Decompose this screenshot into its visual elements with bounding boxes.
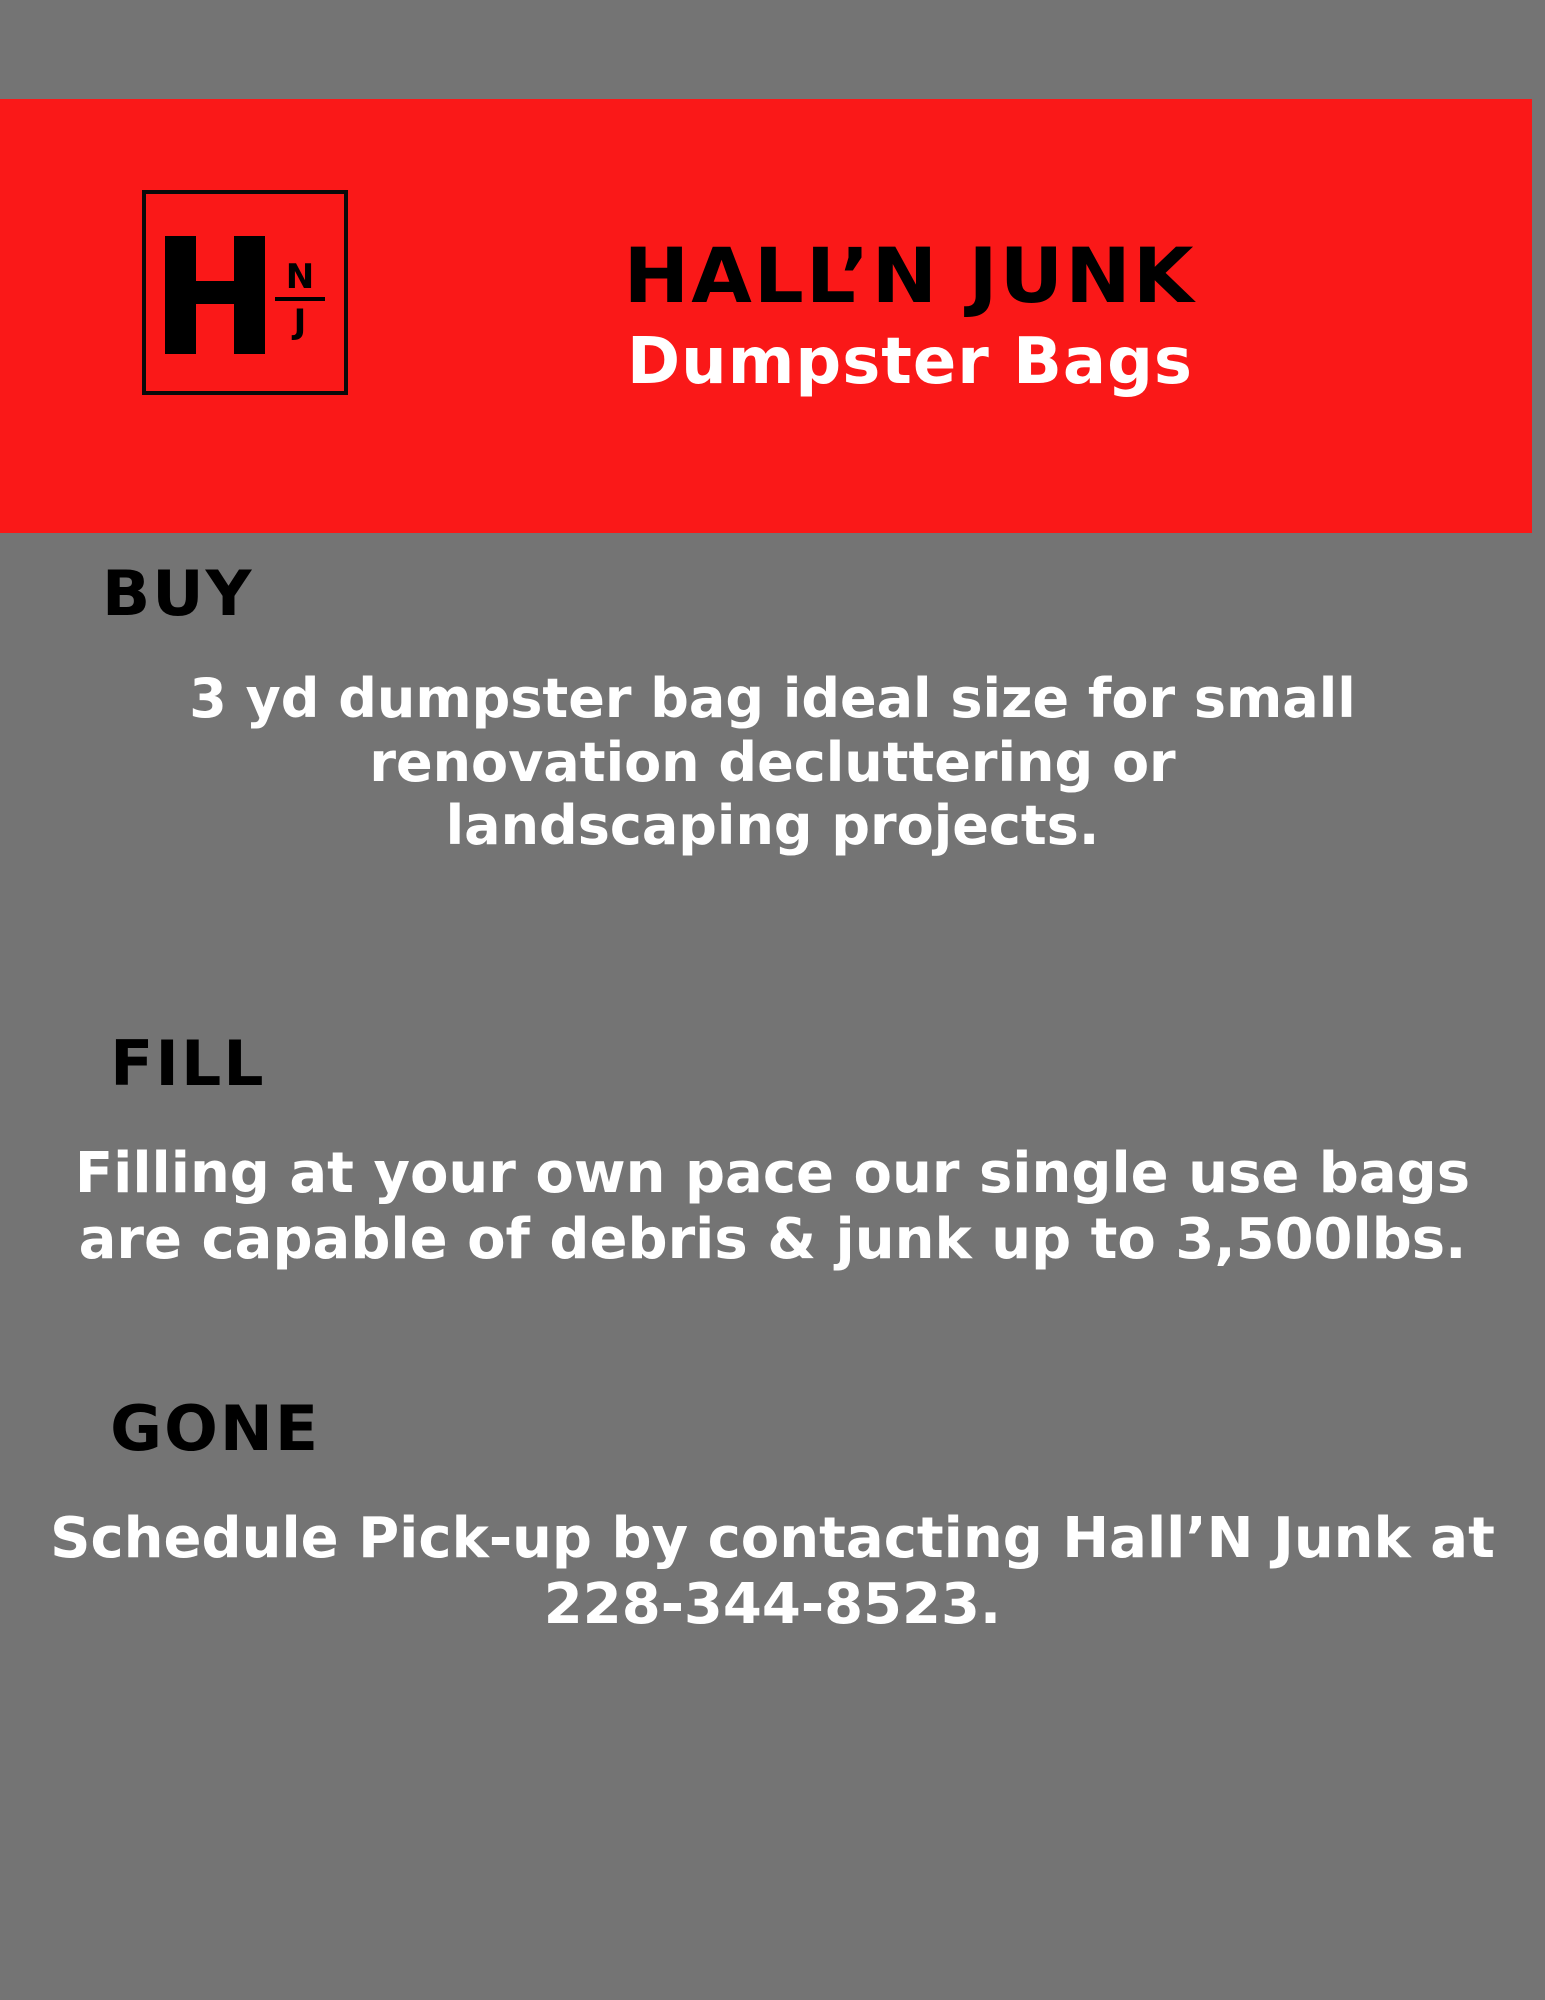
logo-fraction-rule bbox=[275, 297, 325, 301]
section-body-buy: 3 yd dumpster bag ideal size for small r… bbox=[183, 667, 1363, 858]
header-banner: N J HALL’N JUNK Dumpster Bags bbox=[0, 99, 1532, 533]
body-area: BUY 3 yd dumpster bag ideal size for sma… bbox=[0, 533, 1545, 2000]
logo-nj-fraction: N J bbox=[275, 261, 325, 339]
h-crossbar bbox=[196, 281, 234, 304]
section-heading-buy: BUY bbox=[0, 563, 1545, 625]
header-text-block: HALL’N JUNK Dumpster Bags bbox=[380, 99, 1440, 533]
section-body-gone: Schedule Pick-up by contacting Hall’N Ju… bbox=[43, 1506, 1503, 1638]
section-gone: GONE Schedule Pick-up by contacting Hall… bbox=[0, 1398, 1545, 1638]
section-fill: FILL Filling at your own pace our single… bbox=[0, 1033, 1545, 1273]
section-buy: BUY 3 yd dumpster bag ideal size for sma… bbox=[0, 563, 1545, 858]
h-right-stroke bbox=[234, 236, 265, 354]
logo-inner: N J bbox=[146, 194, 344, 391]
section-heading-gone: GONE bbox=[0, 1398, 1545, 1460]
brand-subtitle: Dumpster Bags bbox=[627, 330, 1193, 394]
section-body-fill: Filling at your own pace our single use … bbox=[28, 1141, 1518, 1273]
logo-letter-n: N bbox=[286, 261, 314, 293]
brand-title: HALL’N JUNK bbox=[624, 238, 1196, 314]
logo-letter-h-icon bbox=[165, 236, 265, 354]
flyer-poster: N J HALL’N JUNK Dumpster Bags BUY 3 yd d… bbox=[0, 0, 1545, 2000]
logo-mark: N J bbox=[142, 190, 348, 395]
section-heading-fill: FILL bbox=[0, 1033, 1545, 1095]
h-left-stroke bbox=[165, 236, 196, 354]
logo-letter-j: J bbox=[294, 306, 307, 338]
